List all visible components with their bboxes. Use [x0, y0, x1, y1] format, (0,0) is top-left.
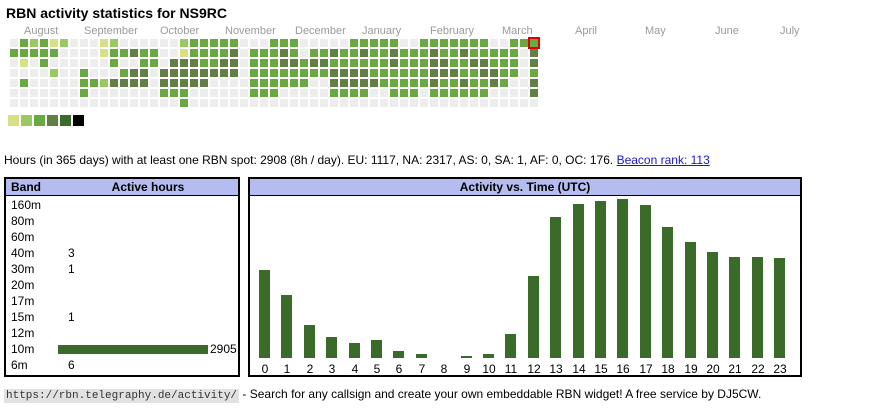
heatmap-cell[interactable] [330, 59, 338, 67]
heatmap-cell[interactable] [480, 99, 488, 107]
heatmap-cell[interactable] [170, 49, 178, 57]
heatmap-cell[interactable] [320, 79, 328, 87]
heatmap-cell[interactable] [320, 49, 328, 57]
heatmap-cell[interactable] [140, 69, 148, 77]
activity-bar[interactable] [707, 252, 718, 358]
heatmap-cell[interactable] [100, 89, 108, 97]
heatmap-cell[interactable] [200, 99, 208, 107]
heatmap-cell[interactable] [210, 99, 218, 107]
heatmap-cell[interactable] [350, 59, 358, 67]
heatmap-cell[interactable] [10, 69, 18, 77]
heatmap-cell[interactable] [380, 59, 388, 67]
heatmap-cell[interactable] [80, 99, 88, 107]
heatmap-cell[interactable] [420, 79, 428, 87]
heatmap-cell[interactable] [10, 99, 18, 107]
heatmap-cell[interactable] [40, 59, 48, 67]
heatmap-cell[interactable] [270, 49, 278, 57]
heatmap-cell[interactable] [470, 39, 478, 47]
heatmap-cell[interactable] [290, 79, 298, 87]
heatmap-cell[interactable] [240, 59, 248, 67]
heatmap-cell[interactable] [80, 39, 88, 47]
heatmap-cell[interactable] [190, 99, 198, 107]
heatmap-cell[interactable] [140, 49, 148, 57]
heatmap-cell[interactable] [70, 69, 78, 77]
heatmap-cell[interactable] [90, 99, 98, 107]
heatmap-cell[interactable] [510, 99, 518, 107]
heatmap-cell[interactable] [460, 69, 468, 77]
heatmap-cell[interactable] [230, 49, 238, 57]
heatmap-cell[interactable] [240, 49, 248, 57]
heatmap-cell[interactable] [360, 59, 368, 67]
heatmap-cell[interactable] [140, 79, 148, 87]
heatmap-cell[interactable] [170, 59, 178, 67]
heatmap-cell[interactable] [470, 89, 478, 97]
heatmap-cell[interactable] [50, 49, 58, 57]
heatmap-cell[interactable] [30, 79, 38, 87]
heatmap-cell[interactable] [310, 89, 318, 97]
heatmap-cell[interactable] [310, 59, 318, 67]
heatmap-cell[interactable] [200, 39, 208, 47]
heatmap-cell[interactable] [410, 59, 418, 67]
heatmap-cell[interactable] [250, 99, 258, 107]
heatmap-cell[interactable] [150, 89, 158, 97]
heatmap-cell[interactable] [460, 99, 468, 107]
heatmap-cell[interactable] [390, 59, 398, 67]
heatmap-cell[interactable] [130, 49, 138, 57]
heatmap-cell[interactable] [70, 99, 78, 107]
heatmap-cell[interactable] [480, 89, 488, 97]
heatmap-cell[interactable] [40, 69, 48, 77]
heatmap-cell[interactable] [280, 99, 288, 107]
heatmap-cell[interactable] [90, 39, 98, 47]
activity-bar[interactable] [752, 257, 763, 358]
heatmap-cell[interactable] [460, 39, 468, 47]
activity-bar[interactable] [662, 227, 673, 358]
heatmap-cell[interactable] [210, 89, 218, 97]
heatmap-cell[interactable] [180, 49, 188, 57]
heatmap-cell[interactable] [420, 39, 428, 47]
heatmap-cell[interactable] [140, 99, 148, 107]
heatmap-cell[interactable] [390, 79, 398, 87]
heatmap-cell[interactable] [160, 69, 168, 77]
heatmap-cell[interactable] [170, 89, 178, 97]
heatmap-cell[interactable] [490, 99, 498, 107]
heatmap-cell[interactable] [370, 59, 378, 67]
heatmap-cell[interactable] [110, 79, 118, 87]
heatmap-cell[interactable] [190, 69, 198, 77]
heatmap-cell[interactable] [110, 89, 118, 97]
heatmap-cell[interactable] [60, 39, 68, 47]
heatmap-cell[interactable] [500, 99, 508, 107]
heatmap-cell[interactable] [20, 49, 28, 57]
heatmap-cell[interactable] [510, 49, 518, 57]
heatmap-cell[interactable] [400, 59, 408, 67]
heatmap-cell[interactable] [500, 89, 508, 97]
heatmap-cell[interactable] [210, 59, 218, 67]
heatmap-cell[interactable] [150, 99, 158, 107]
heatmap-cell[interactable] [80, 59, 88, 67]
heatmap-cell[interactable] [10, 59, 18, 67]
heatmap-cell[interactable] [270, 39, 278, 47]
heatmap-cell[interactable] [460, 89, 468, 97]
heatmap-cell[interactable] [400, 49, 408, 57]
heatmap-cell[interactable] [130, 99, 138, 107]
heatmap-grid[interactable] [10, 39, 870, 111]
activity-bar[interactable] [550, 217, 561, 358]
heatmap-cell[interactable] [510, 59, 518, 67]
heatmap-cell[interactable] [380, 49, 388, 57]
heatmap-cell[interactable] [220, 99, 228, 107]
heatmap-cell[interactable] [440, 79, 448, 87]
heatmap-cell[interactable] [240, 79, 248, 87]
heatmap-cell[interactable] [40, 39, 48, 47]
heatmap-cell[interactable] [430, 49, 438, 57]
heatmap-cell[interactable] [290, 99, 298, 107]
heatmap-cell[interactable] [40, 79, 48, 87]
heatmap-cell[interactable] [130, 69, 138, 77]
heatmap-cell[interactable] [60, 99, 68, 107]
heatmap-cell[interactable] [160, 89, 168, 97]
heatmap-cell[interactable] [50, 59, 58, 67]
activity-bar[interactable] [326, 337, 337, 358]
heatmap-cell[interactable] [160, 99, 168, 107]
heatmap-cell[interactable] [90, 59, 98, 67]
heatmap-cell[interactable] [280, 79, 288, 87]
heatmap-cell[interactable] [200, 79, 208, 87]
heatmap-cell[interactable] [270, 59, 278, 67]
heatmap-cell[interactable] [370, 69, 378, 77]
heatmap-cell[interactable] [530, 89, 538, 97]
heatmap-cell[interactable] [460, 79, 468, 87]
heatmap-cell[interactable] [460, 49, 468, 57]
heatmap-cell[interactable] [90, 69, 98, 77]
heatmap-cell[interactable] [370, 99, 378, 107]
heatmap-cell[interactable] [330, 89, 338, 97]
heatmap-cell[interactable] [340, 69, 348, 77]
heatmap-cell[interactable] [430, 89, 438, 97]
heatmap-cell[interactable] [130, 89, 138, 97]
activity-bar[interactable] [259, 270, 270, 358]
heatmap-cell[interactable] [470, 49, 478, 57]
heatmap-cell[interactable] [170, 99, 178, 107]
heatmap-cell[interactable] [230, 89, 238, 97]
footer-url[interactable]: https://rbn.telegraphy.de/activity/ [4, 389, 239, 403]
heatmap-cell[interactable] [530, 59, 538, 67]
heatmap-cell[interactable] [250, 79, 258, 87]
heatmap-cell[interactable] [430, 99, 438, 107]
heatmap-cell[interactable] [50, 79, 58, 87]
heatmap-cell[interactable] [370, 39, 378, 47]
heatmap-cell[interactable] [60, 89, 68, 97]
heatmap-cell[interactable] [180, 39, 188, 47]
heatmap-cell[interactable] [280, 69, 288, 77]
heatmap-cell[interactable] [340, 99, 348, 107]
heatmap-cell[interactable] [30, 99, 38, 107]
heatmap-cell[interactable] [330, 99, 338, 107]
heatmap-cell[interactable] [80, 69, 88, 77]
heatmap-cell[interactable] [150, 69, 158, 77]
heatmap-cell[interactable] [160, 39, 168, 47]
heatmap-cell[interactable] [100, 69, 108, 77]
heatmap-cell[interactable] [250, 89, 258, 97]
heatmap-cell[interactable] [380, 79, 388, 87]
heatmap-cell[interactable] [190, 39, 198, 47]
heatmap-cell[interactable] [10, 49, 18, 57]
heatmap-cell[interactable] [450, 39, 458, 47]
heatmap-cell[interactable] [490, 49, 498, 57]
heatmap-cell[interactable] [290, 39, 298, 47]
heatmap-cell[interactable] [320, 99, 328, 107]
heatmap-cell[interactable] [510, 79, 518, 87]
heatmap-cell[interactable] [290, 59, 298, 67]
heatmap-cell[interactable] [70, 49, 78, 57]
heatmap-cell[interactable] [510, 39, 518, 47]
heatmap-cell[interactable] [250, 49, 258, 57]
heatmap-cell[interactable] [530, 69, 538, 77]
heatmap-cell[interactable] [80, 89, 88, 97]
heatmap-cell[interactable] [50, 69, 58, 77]
heatmap-cell[interactable] [230, 99, 238, 107]
heatmap-cell[interactable] [170, 69, 178, 77]
heatmap-cell[interactable] [100, 49, 108, 57]
heatmap-cell[interactable] [400, 89, 408, 97]
heatmap-cell[interactable] [380, 39, 388, 47]
heatmap-cell[interactable] [350, 39, 358, 47]
heatmap-cell[interactable] [200, 59, 208, 67]
heatmap-cell[interactable] [420, 69, 428, 77]
heatmap-cell[interactable] [360, 89, 368, 97]
heatmap-cell[interactable] [120, 39, 128, 47]
heatmap-cell[interactable] [260, 99, 268, 107]
heatmap-cell[interactable] [330, 79, 338, 87]
heatmap-cell[interactable] [220, 39, 228, 47]
activity-bar[interactable] [393, 351, 404, 358]
heatmap-cell[interactable] [450, 89, 458, 97]
heatmap-cell[interactable] [450, 49, 458, 57]
heatmap-cell[interactable] [490, 59, 498, 67]
heatmap-cell[interactable] [330, 39, 338, 47]
heatmap-cell[interactable] [260, 79, 268, 87]
heatmap-cell[interactable] [200, 89, 208, 97]
heatmap-cell[interactable] [230, 69, 238, 77]
heatmap-cell[interactable] [430, 39, 438, 47]
heatmap-cell[interactable] [100, 59, 108, 67]
heatmap-cell[interactable] [500, 69, 508, 77]
heatmap-cell[interactable] [350, 89, 358, 97]
heatmap-cell[interactable] [160, 59, 168, 67]
heatmap-cell[interactable] [100, 39, 108, 47]
heatmap-cell[interactable] [20, 69, 28, 77]
heatmap-cell[interactable] [120, 79, 128, 87]
heatmap-cell[interactable] [420, 89, 428, 97]
heatmap-cell[interactable] [470, 59, 478, 67]
heatmap-cell[interactable] [120, 69, 128, 77]
heatmap-cell[interactable] [340, 39, 348, 47]
heatmap-cell[interactable] [440, 59, 448, 67]
heatmap-cell[interactable] [340, 49, 348, 57]
heatmap-cell[interactable] [490, 39, 498, 47]
heatmap-cell[interactable] [50, 99, 58, 107]
heatmap-cell[interactable] [40, 99, 48, 107]
heatmap-cell[interactable] [120, 89, 128, 97]
heatmap-cell[interactable] [270, 89, 278, 97]
heatmap-cell[interactable] [60, 59, 68, 67]
heatmap-cell[interactable] [390, 99, 398, 107]
heatmap-cell[interactable] [100, 79, 108, 87]
heatmap-cell[interactable] [260, 89, 268, 97]
heatmap-cell[interactable] [280, 59, 288, 67]
heatmap-cell[interactable] [410, 39, 418, 47]
heatmap-cell[interactable] [300, 99, 308, 107]
heatmap-cell[interactable] [430, 79, 438, 87]
heatmap-cell[interactable] [130, 79, 138, 87]
heatmap-cell[interactable] [520, 59, 528, 67]
heatmap-cell[interactable] [480, 79, 488, 87]
heatmap-cell[interactable] [260, 49, 268, 57]
heatmap-cell[interactable] [150, 79, 158, 87]
heatmap-cell[interactable] [270, 69, 278, 77]
heatmap-cell[interactable] [400, 99, 408, 107]
heatmap-cell[interactable] [140, 39, 148, 47]
heatmap-cell[interactable] [240, 99, 248, 107]
heatmap-cell[interactable] [480, 39, 488, 47]
heatmap-cell[interactable] [370, 79, 378, 87]
heatmap-cell[interactable] [260, 39, 268, 47]
heatmap-cell[interactable] [220, 89, 228, 97]
heatmap-cell[interactable] [90, 89, 98, 97]
heatmap-cell[interactable] [280, 49, 288, 57]
heatmap-cell[interactable] [490, 79, 498, 87]
heatmap-cell[interactable] [190, 89, 198, 97]
heatmap-cell[interactable] [440, 99, 448, 107]
heatmap-cell[interactable] [330, 69, 338, 77]
heatmap-cell[interactable] [120, 59, 128, 67]
heatmap-cell[interactable] [400, 79, 408, 87]
heatmap-cell[interactable] [180, 79, 188, 87]
heatmap-cell[interactable] [360, 99, 368, 107]
heatmap-cell[interactable] [350, 79, 358, 87]
activity-bar[interactable] [774, 258, 785, 358]
heatmap-cell[interactable] [490, 89, 498, 97]
heatmap-cell[interactable] [220, 59, 228, 67]
heatmap-cell[interactable] [130, 39, 138, 47]
activity-bar[interactable] [573, 204, 584, 358]
heatmap-cell[interactable] [20, 59, 28, 67]
heatmap-cell[interactable] [270, 99, 278, 107]
heatmap-cell[interactable] [340, 59, 348, 67]
heatmap-cell[interactable] [250, 39, 258, 47]
heatmap-cell[interactable] [480, 49, 488, 57]
heatmap-cell[interactable] [490, 69, 498, 77]
heatmap-cell[interactable] [380, 99, 388, 107]
heatmap-cell[interactable] [130, 59, 138, 67]
heatmap-cell[interactable] [390, 49, 398, 57]
heatmap-cell[interactable] [30, 39, 38, 47]
heatmap-cell[interactable] [390, 69, 398, 77]
heatmap-cell[interactable] [300, 69, 308, 77]
heatmap-cell[interactable] [470, 69, 478, 77]
heatmap-cell[interactable] [440, 49, 448, 57]
heatmap-cell[interactable] [510, 69, 518, 77]
heatmap-cell[interactable] [440, 39, 448, 47]
heatmap-cell[interactable] [150, 49, 158, 57]
heatmap-cell[interactable] [110, 59, 118, 67]
heatmap-cell[interactable] [150, 39, 158, 47]
heatmap-cell[interactable] [240, 89, 248, 97]
beacon-rank-link[interactable]: Beacon rank: 113 [617, 153, 710, 167]
heatmap-cell[interactable] [70, 59, 78, 67]
heatmap-cell[interactable] [250, 69, 258, 77]
heatmap-cell[interactable] [190, 79, 198, 87]
heatmap-cell[interactable] [420, 59, 428, 67]
heatmap-cell[interactable] [150, 59, 158, 67]
heatmap-cell[interactable] [450, 59, 458, 67]
heatmap-cell[interactable] [50, 39, 58, 47]
heatmap-cell[interactable] [180, 89, 188, 97]
heatmap-cell[interactable] [300, 49, 308, 57]
heatmap-cell[interactable] [370, 49, 378, 57]
heatmap-cell[interactable] [170, 79, 178, 87]
heatmap-cell[interactable] [120, 99, 128, 107]
heatmap-cell[interactable] [190, 49, 198, 57]
heatmap-cell[interactable] [220, 79, 228, 87]
heatmap-cell[interactable] [400, 39, 408, 47]
activity-bar[interactable] [505, 334, 516, 358]
heatmap-cell[interactable] [230, 79, 238, 87]
heatmap-cell[interactable] [470, 79, 478, 87]
heatmap-cell[interactable] [100, 99, 108, 107]
activity-bar[interactable] [416, 354, 427, 358]
heatmap-cell[interactable] [450, 69, 458, 77]
heatmap-cell[interactable] [10, 39, 18, 47]
heatmap-cell[interactable] [30, 49, 38, 57]
heatmap-cell[interactable] [360, 79, 368, 87]
heatmap-cell[interactable] [40, 49, 48, 57]
heatmap-cell[interactable] [390, 89, 398, 97]
heatmap-cell[interactable] [530, 49, 538, 57]
heatmap-cell[interactable] [440, 69, 448, 77]
heatmap-cell[interactable] [120, 49, 128, 57]
heatmap-cell[interactable] [70, 79, 78, 87]
heatmap-cell[interactable] [20, 89, 28, 97]
heatmap-cell[interactable] [530, 99, 538, 107]
heatmap-cell[interactable] [240, 39, 248, 47]
heatmap-cell[interactable] [110, 39, 118, 47]
heatmap-cell[interactable] [60, 69, 68, 77]
heatmap-cell[interactable] [310, 49, 318, 57]
heatmap-cell[interactable] [360, 49, 368, 57]
heatmap-cell[interactable] [360, 69, 368, 77]
heatmap-cell[interactable] [230, 59, 238, 67]
heatmap-cell[interactable] [530, 79, 538, 87]
heatmap-cell[interactable] [300, 89, 308, 97]
heatmap-cell[interactable] [520, 49, 528, 57]
heatmap-cell[interactable] [300, 59, 308, 67]
heatmap-cell[interactable] [140, 89, 148, 97]
heatmap-cell[interactable] [160, 79, 168, 87]
heatmap-cell[interactable] [310, 69, 318, 77]
heatmap-cell[interactable] [70, 89, 78, 97]
heatmap-cell[interactable] [420, 99, 428, 107]
heatmap-cell[interactable] [320, 39, 328, 47]
heatmap-cell[interactable] [500, 39, 508, 47]
activity-bar[interactable] [685, 242, 696, 358]
heatmap-cell[interactable] [260, 59, 268, 67]
activity-bar[interactable] [617, 199, 628, 358]
heatmap-cell[interactable] [180, 59, 188, 67]
heatmap-cell[interactable] [300, 79, 308, 87]
heatmap-cell[interactable] [310, 39, 318, 47]
